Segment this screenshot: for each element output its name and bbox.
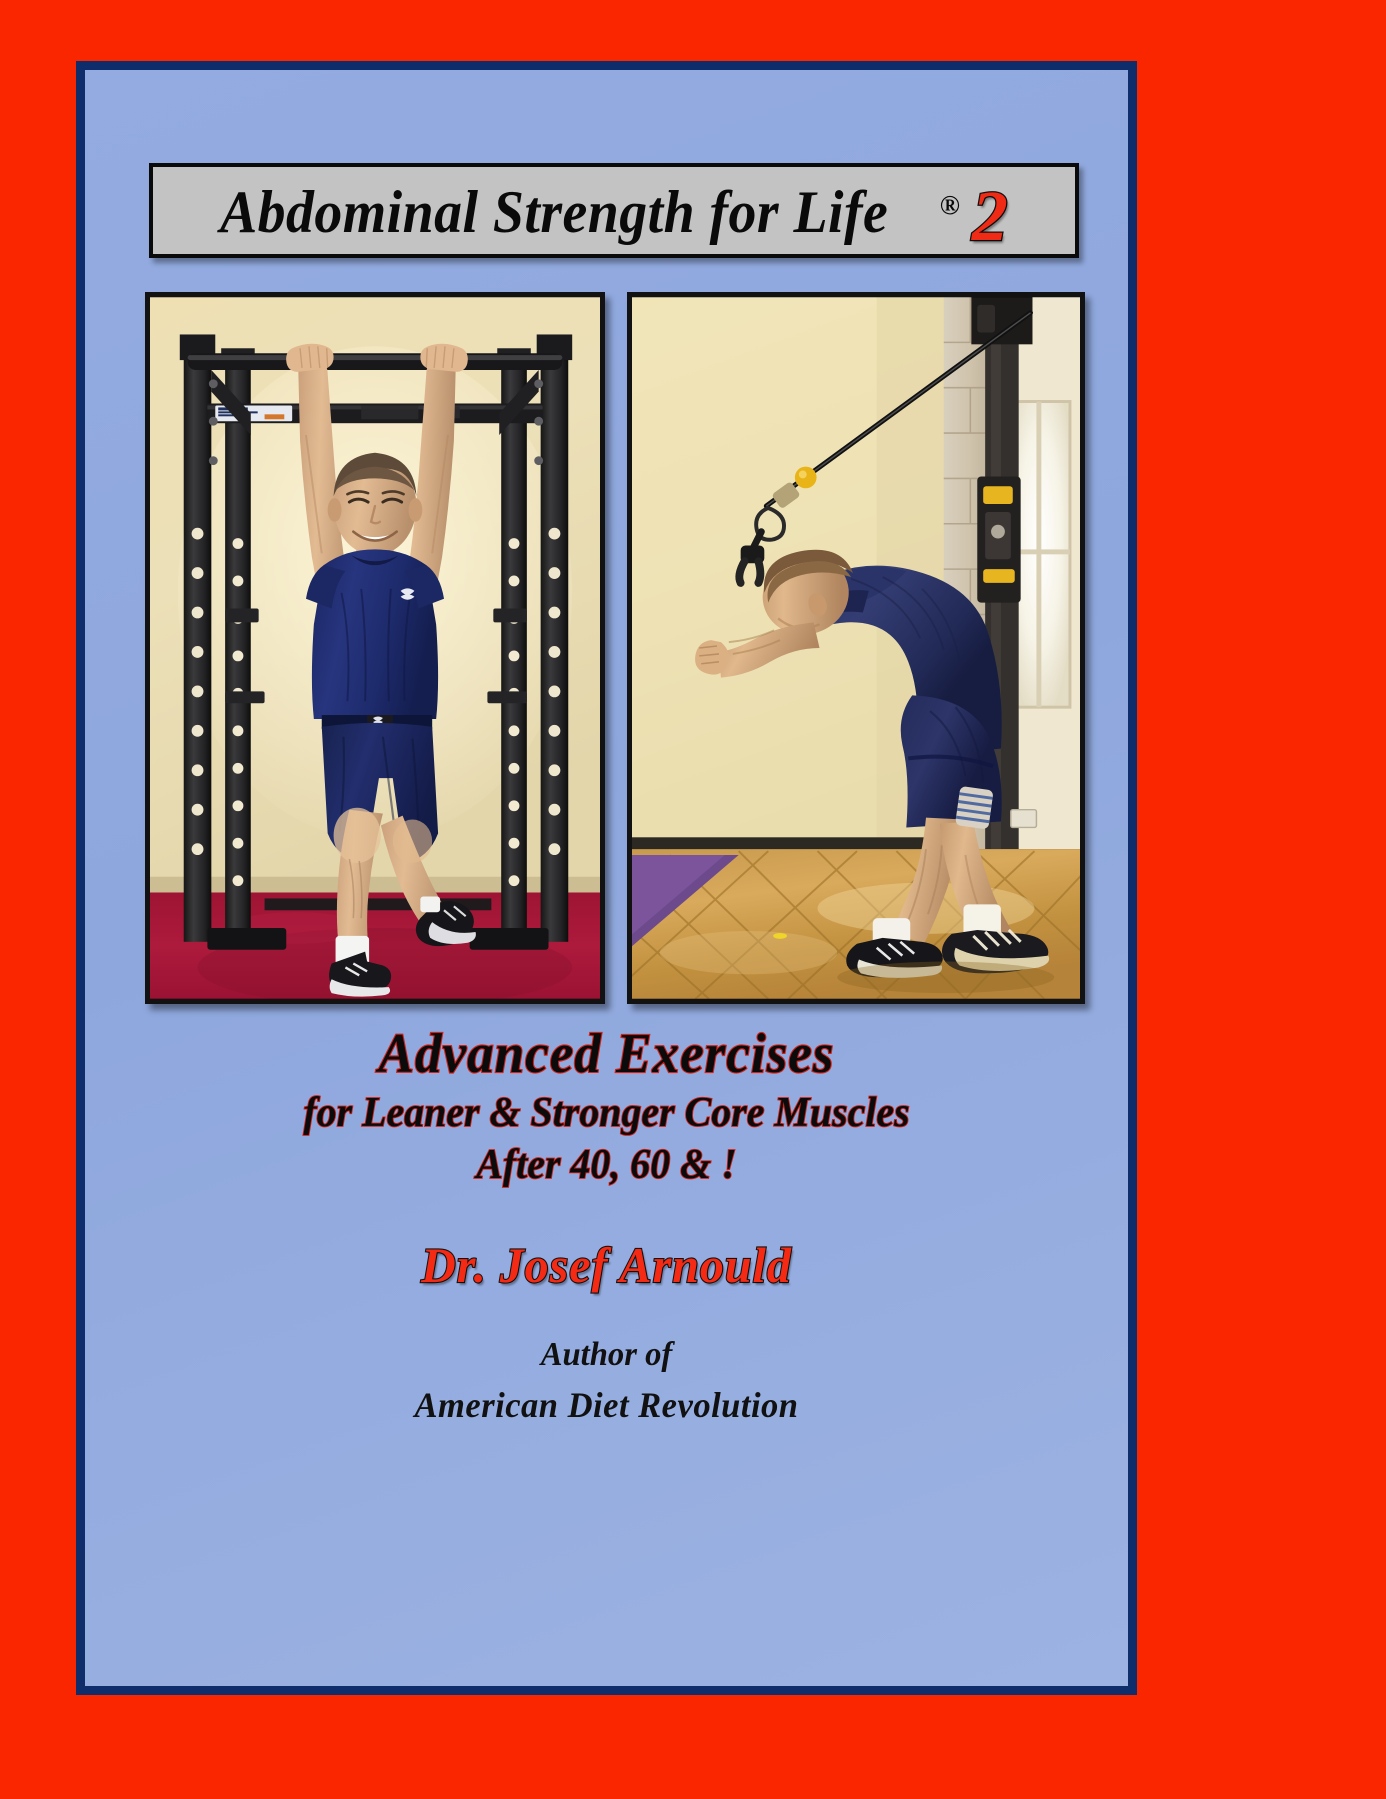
registered-trademark-icon: ® (940, 190, 960, 221)
subtitle-line-2: for Leaner & Stronger Core Muscles (111, 1089, 1102, 1139)
subtitle-block: Advanced Exercises for Leaner & Stronger… (85, 1025, 1128, 1190)
author-block: Dr. Josef Arnould Author of American Die… (85, 1236, 1128, 1426)
photo-row (145, 292, 1085, 1004)
author-credit-label: Author of (106, 1336, 1107, 1374)
hanging-knee-raise-photo (145, 292, 605, 1004)
author-other-book-title: American Diet Revolution (106, 1384, 1107, 1426)
page-title: Abdominal Strength for Life (220, 178, 888, 247)
book-cover: Abdominal Strength for Life ® 2 (0, 0, 1386, 1799)
title-line: Abdominal Strength for Life ® 2 (220, 167, 1008, 250)
subtitle-line-3: After 40, 60 & ! (111, 1141, 1102, 1191)
author-name: Dr. Josef Arnould (106, 1236, 1107, 1294)
title-plaque: Abdominal Strength for Life ® 2 (149, 163, 1079, 258)
subtitle-line-1: Advanced Exercises (111, 1025, 1102, 1083)
volume-number: 2 (972, 175, 1008, 258)
cable-crunch-photo (627, 292, 1085, 1004)
cover-inner-panel: Abdominal Strength for Life ® 2 (76, 61, 1137, 1695)
